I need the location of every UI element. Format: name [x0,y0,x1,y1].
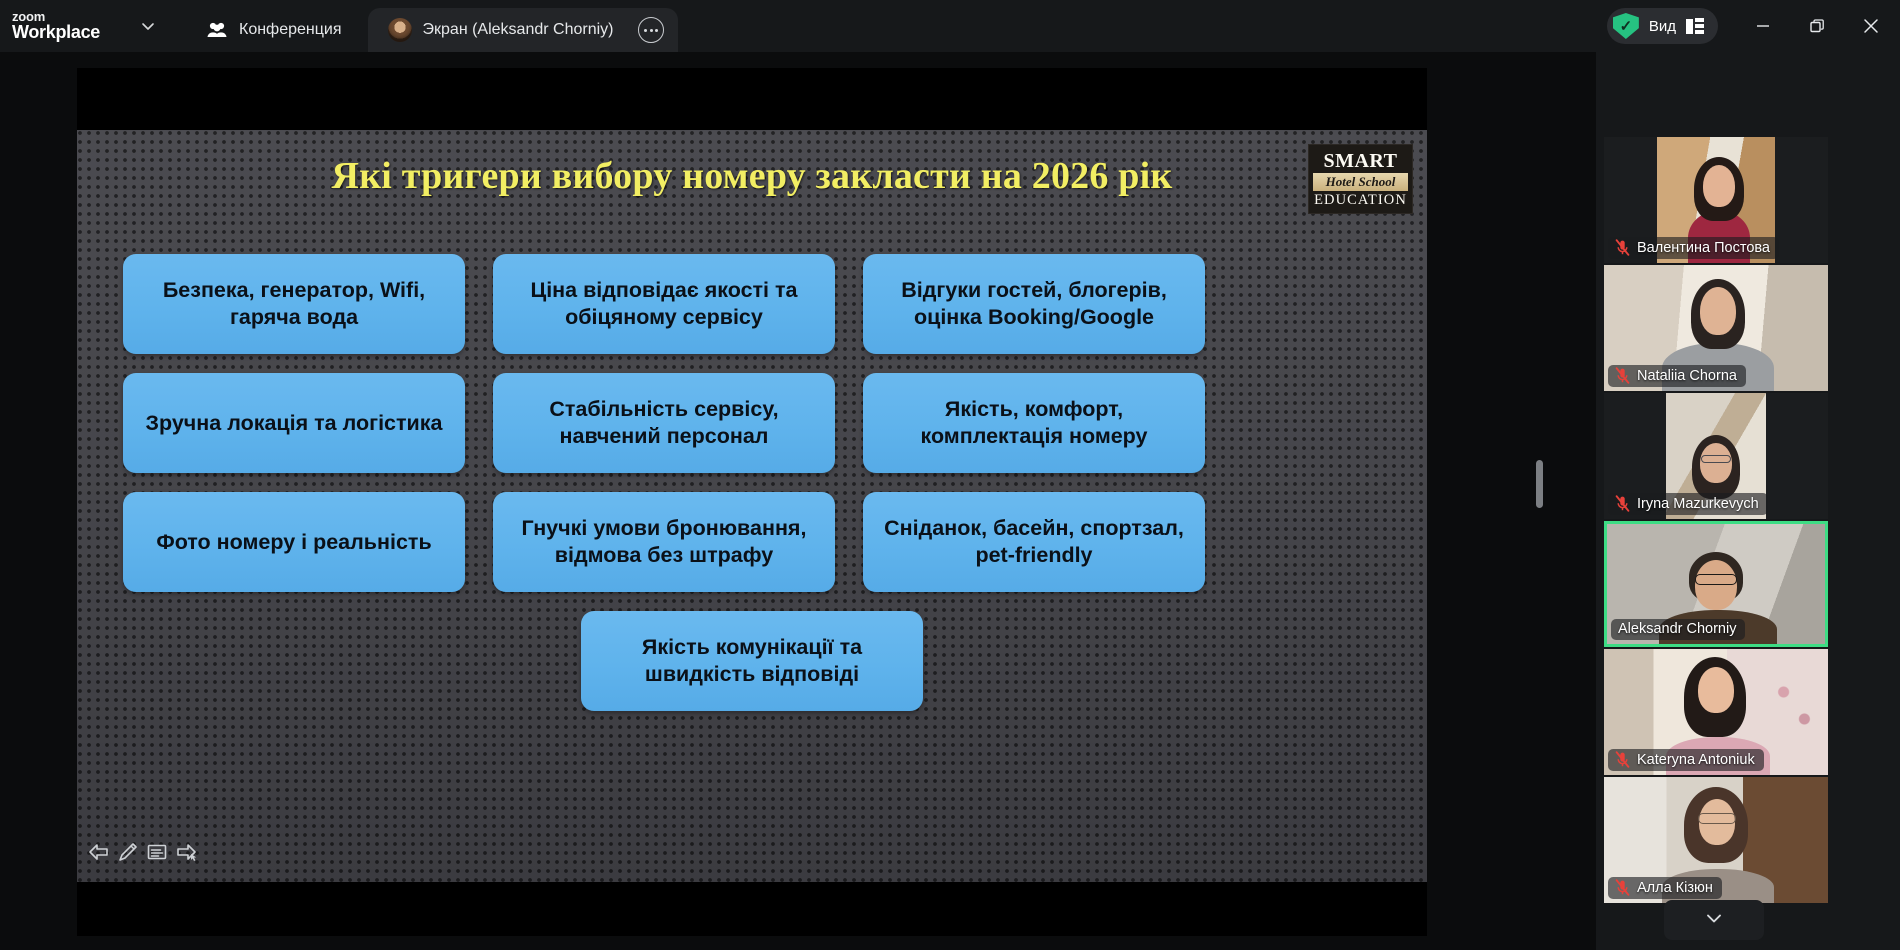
participant-name: Aleksandr Chorniy [1618,621,1736,637]
restore-window-icon[interactable] [1790,0,1844,52]
trigger-card: Фото номеру і реальність [123,492,465,592]
mic-muted-icon [1615,495,1630,512]
participant-name: Kateryna Antoniuk [1637,752,1755,768]
participant-name-bar: Kateryna Antoniuk [1608,749,1764,771]
view-label: Вид [1649,18,1676,35]
pencil-icon[interactable] [116,840,140,864]
slide-title: Які тригери вибору номеру закласти на 20… [77,154,1427,198]
mic-muted-icon [1615,239,1630,256]
tab-meeting-label: Конференция [239,21,342,39]
card-row-1: Безпека, генератор, Wifi, гаряча вода Ці… [123,254,1381,354]
back-arrow-icon[interactable] [87,840,111,864]
participant-name: Nataliia Chorna [1637,368,1737,384]
participant-name-bar: Валентина Постова [1608,237,1779,259]
tab-screen-share[interactable]: Экран (Aleksandr Chorniy) [368,8,679,52]
participant-name: Валентина Постова [1637,240,1770,256]
title-bar: zoom Workplace Конференция Экран (Aleksa… [0,0,1900,52]
trigger-card: Якість комунікації та швидкість відповід… [581,611,923,711]
avatar-icon [388,18,412,42]
logo-script-text: Hotel School [1326,174,1396,189]
smart-hotel-school-logo: SMART Hotel School EDUCATION [1308,144,1413,214]
mic-muted-icon [1615,751,1630,768]
participant-filmstrip: Валентина Постова Nataliia Chorna [1596,52,1900,950]
participant-name-bar: Aleksandr Chorniy [1611,619,1745,640]
chevron-down-icon[interactable] [126,0,170,52]
shared-content-frame[interactable]: Які тригери вибору номеру закласти на 20… [77,68,1427,936]
layout-grid-icon [1686,18,1704,34]
participant-tile[interactable]: Валентина Постова [1604,137,1828,263]
participant-tiles: Валентина Постова Nataliia Chorna [1604,137,1828,905]
brand-name-top: zoom [12,10,126,24]
mic-muted-icon [1615,879,1630,896]
card-row-4: Якість комунікації та швидкість відповід… [123,611,1381,711]
close-icon[interactable] [1844,0,1898,52]
brand-name-bottom: Workplace [12,23,126,42]
text-notes-icon[interactable] [145,840,169,864]
more-options-icon[interactable] [638,17,664,43]
trigger-card: Безпека, генератор, Wifi, гаряча вода [123,254,465,354]
logo-top-text: SMART [1323,151,1397,171]
tab-strip: Конференция Экран (Aleksandr Chorniy) [186,0,678,52]
view-button[interactable]: ✓ Вид [1607,8,1718,44]
card-row-2: Зручна локація та логістика Стабільність… [123,373,1381,473]
participant-name: Алла Кізюн [1637,880,1713,896]
mic-muted-icon [1615,367,1630,384]
card-row-3: Фото номеру і реальність Гнучкі умови бр… [123,492,1381,592]
window-controls: ✓ Вид [1607,0,1900,52]
trigger-card: Гнучкі умови бронювання, відмова без штр… [493,492,835,592]
annotation-toolbar[interactable] [87,840,198,864]
trigger-card: Якість, комфорт, комплектація номеру [863,373,1205,473]
logo-script-band: Hotel School [1313,173,1408,191]
stage-scrollbar-thumb[interactable] [1536,460,1543,508]
participant-tile-active-speaker[interactable]: Aleksandr Chorniy [1604,521,1828,647]
participant-name-bar: Алла Кізюн [1608,877,1722,899]
app-brand: zoom Workplace [0,0,126,52]
participant-tile[interactable]: Iryna Mazurkevych [1604,393,1828,519]
participants-icon [206,21,228,39]
shared-screen-stage: Які тригери вибору номеру закласти на 20… [0,52,1596,950]
participant-name: Iryna Mazurkevych [1637,496,1759,512]
participant-tile[interactable]: Алла Кізюн [1604,777,1828,903]
trigger-card: Зручна локація та логістика [123,373,465,473]
presentation-slide: Які тригери вибору номеру закласти на 20… [77,130,1427,882]
participant-name-bar: Nataliia Chorna [1608,365,1746,387]
trigger-card: Ціна відповідає якості та обіцяному серв… [493,254,835,354]
trigger-card: Стабільність сервісу, навчений персонал [493,373,835,473]
trigger-card: Сніданок, басейн, спортзал, pet-friendly [863,492,1205,592]
participant-tile[interactable]: Kateryna Antoniuk [1604,649,1828,775]
trigger-card-grid: Безпека, генератор, Wifi, гаряча вода Ці… [123,254,1381,730]
participant-name-bar: Iryna Mazurkevych [1608,493,1768,515]
chevron-down-icon [1703,907,1725,934]
pointer-arrow-icon[interactable] [174,840,198,864]
tab-screen-share-label: Экран (Aleksandr Chorniy) [423,21,614,39]
minimize-icon[interactable] [1736,0,1790,52]
filmstrip-scroll-down-button[interactable] [1664,900,1764,940]
trigger-card: Відгуки гостей, блогерів, оцінка Booking… [863,254,1205,354]
shield-check-icon: ✓ [1613,13,1639,39]
logo-bottom-text: EDUCATION [1314,193,1407,208]
tab-meeting[interactable]: Конференция [186,8,362,52]
participant-tile[interactable]: Nataliia Chorna [1604,265,1828,391]
